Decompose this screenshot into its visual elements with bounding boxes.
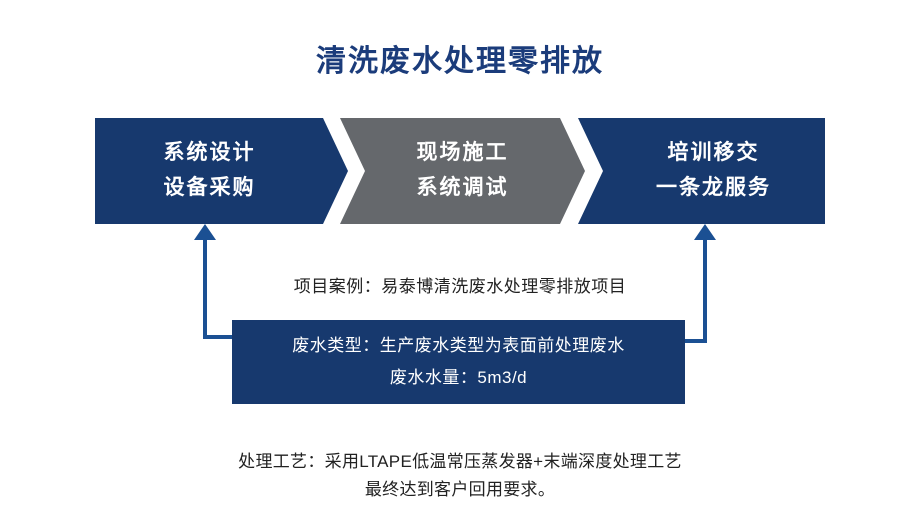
process-step-3[interactable]: 培训移交 一条龙服务 <box>578 118 825 224</box>
process-step-3-line1: 培训移交 <box>656 136 771 171</box>
process-step-1-line2: 设备采购 <box>164 171 256 206</box>
process-step-1[interactable]: 系统设计 设备采购 <box>95 118 348 224</box>
wastewater-volume-row: 废水水量：5m3/d <box>390 362 527 394</box>
process-step-3-line2: 一条龙服务 <box>656 171 771 206</box>
process-step-2-line2: 系统调试 <box>417 171 509 206</box>
treatment-process-line1: 处理工艺：采用LTAPE低温常压蒸发器+末端深度处理工艺 <box>0 448 920 476</box>
process-step-2[interactable]: 现场施工 系统调试 <box>340 118 585 224</box>
process-step-3-text: 培训移交 一条龙服务 <box>656 136 771 205</box>
slide-canvas: 清洗废水处理零排放 系统设计 设备采购 现场施工 系统调试 培训移交 一条龙服务… <box>0 0 920 517</box>
process-step-2-line1: 现场施工 <box>417 136 509 171</box>
process-step-1-text: 系统设计 设备采购 <box>164 136 256 205</box>
case-detail-box: 废水类型：生产废水类型为表面前处理废水 废水水量：5m3/d <box>232 320 685 404</box>
process-step-1-line1: 系统设计 <box>164 136 256 171</box>
page-title: 清洗废水处理零排放 <box>0 36 920 80</box>
case-caption: 项目案例：易泰博清洗废水处理零排放项目 <box>0 272 920 297</box>
process-step-2-text: 现场施工 系统调试 <box>417 136 509 205</box>
treatment-process-note: 处理工艺：采用LTAPE低温常压蒸发器+末端深度处理工艺 最终达到客户回用要求。 <box>0 448 920 504</box>
wastewater-type-row: 废水类型：生产废水类型为表面前处理废水 <box>292 330 625 362</box>
treatment-process-line2: 最终达到客户回用要求。 <box>0 476 920 504</box>
